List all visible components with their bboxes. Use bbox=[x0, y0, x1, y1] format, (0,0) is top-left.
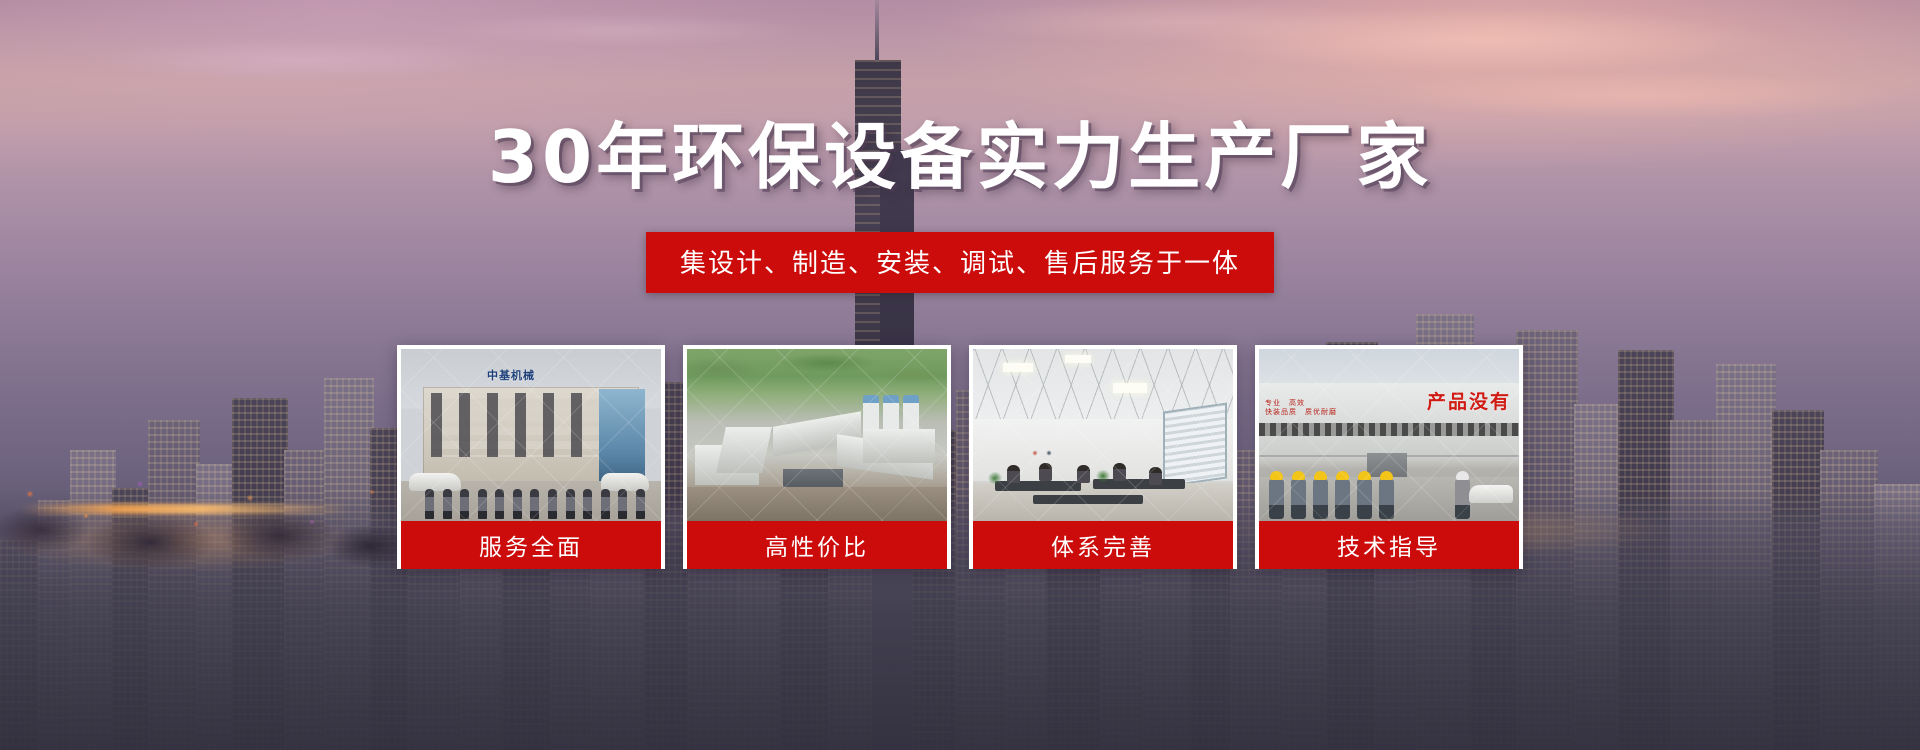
feature-card[interactable]: 产品没有 专业 高效快装品质 质优耐磨 技术指导 bbox=[1255, 345, 1523, 569]
factory-wall-slogan: 产品没有 bbox=[1427, 387, 1511, 414]
page-title: 30年环保设备实力生产厂家 bbox=[0, 98, 1920, 203]
subtitle-ribbon: 集设计、制造、安装、调试、售后服务于一体 bbox=[646, 232, 1274, 293]
plant-hall bbox=[863, 429, 935, 463]
potted-plant bbox=[985, 469, 1005, 487]
window-blinds bbox=[1163, 403, 1227, 488]
factory-wall-slogan-small: 专业 高效快装品质 质优耐磨 bbox=[1265, 399, 1337, 417]
worker bbox=[1313, 479, 1328, 519]
ceiling-light-panel bbox=[1065, 355, 1091, 363]
card-caption: 高性价比 bbox=[687, 521, 947, 569]
card-image-factory-exterior: 产品没有 专业 高效快装品质 质优耐磨 bbox=[1259, 349, 1519, 521]
card-image-industrial-plant bbox=[687, 349, 947, 521]
worker bbox=[1269, 479, 1284, 519]
staff-lineup bbox=[425, 483, 645, 519]
ceiling-light-panel bbox=[1113, 383, 1147, 393]
supervisor bbox=[1455, 479, 1470, 519]
ceiling-light-panel bbox=[1003, 363, 1033, 372]
card-caption: 服务全面 bbox=[401, 521, 661, 569]
card-caption: 技术指导 bbox=[1259, 521, 1519, 569]
card-caption: 体系完善 bbox=[973, 521, 1233, 569]
plant-road bbox=[687, 487, 947, 521]
parked-car bbox=[1469, 485, 1513, 503]
feature-card-row: 中基机械 服务全面 bbox=[397, 345, 1523, 569]
feature-card[interactable]: 体系完善 bbox=[969, 345, 1237, 569]
feature-card[interactable]: 高性价比 bbox=[683, 345, 951, 569]
building-sign-text: 中基机械 bbox=[487, 367, 535, 383]
worker bbox=[1357, 479, 1372, 519]
feature-card[interactable]: 中基机械 服务全面 bbox=[397, 345, 665, 569]
seated-person bbox=[1113, 463, 1126, 481]
seated-person bbox=[1039, 463, 1052, 481]
desk bbox=[1033, 495, 1143, 504]
worker bbox=[1379, 479, 1394, 519]
bridge-light-strip bbox=[20, 504, 350, 514]
potted-plant bbox=[1093, 467, 1113, 485]
card-image-office-interior bbox=[973, 349, 1233, 521]
seated-person bbox=[1007, 465, 1020, 483]
wall-logo bbox=[1025, 437, 1059, 463]
seated-person bbox=[1149, 467, 1162, 485]
glass-entrance-bay bbox=[599, 389, 645, 481]
plant-hall bbox=[716, 427, 772, 473]
worker bbox=[1335, 479, 1350, 519]
hero-banner: 30年环保设备实力生产厂家 集设计、制造、安装、调试、售后服务于一体 中基机械 … bbox=[0, 0, 1920, 750]
card-image-office-building: 中基机械 bbox=[401, 349, 661, 521]
worker bbox=[1291, 479, 1306, 519]
seated-person bbox=[1077, 465, 1090, 483]
